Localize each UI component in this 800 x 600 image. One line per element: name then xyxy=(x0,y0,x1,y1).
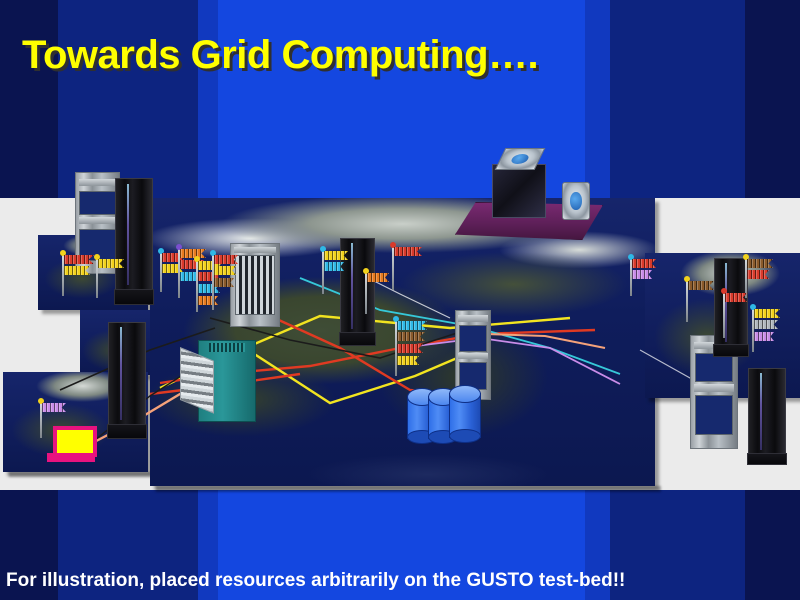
flag-pole xyxy=(752,308,754,352)
tower-light-strip xyxy=(351,243,353,329)
flag-pole xyxy=(62,254,64,296)
rack-bar xyxy=(458,315,488,321)
rack-slot xyxy=(695,395,734,435)
flag-pole xyxy=(392,246,394,290)
tower-base xyxy=(339,332,376,346)
rack-slot xyxy=(459,325,488,352)
cray-logo xyxy=(209,343,245,352)
flag-pole xyxy=(745,258,747,298)
dish-eye xyxy=(509,154,530,164)
cylinder-top xyxy=(449,385,481,403)
flag-pole xyxy=(178,248,180,298)
rack-bar xyxy=(234,247,276,253)
tower-light-strip xyxy=(127,184,129,285)
flag-pole xyxy=(322,250,324,294)
flag-pole xyxy=(196,260,198,312)
flag-pole xyxy=(723,292,725,338)
tower-right xyxy=(748,368,786,460)
flag-pole xyxy=(365,272,367,314)
tower-light-strip xyxy=(760,373,762,450)
flag-pole xyxy=(395,320,397,376)
rack-bar xyxy=(694,384,735,392)
flag-pole xyxy=(686,280,688,322)
rack-bar xyxy=(79,217,117,224)
slide-root: Towards Grid Computing…. xyxy=(0,0,800,600)
tower-far-right xyxy=(714,258,748,352)
rack-bar xyxy=(458,353,488,359)
tower-base xyxy=(107,424,147,439)
dish-eye xyxy=(570,192,581,209)
flag-pole xyxy=(212,254,214,310)
rack-slot xyxy=(235,255,275,314)
cube-computer xyxy=(492,164,546,218)
flag-pole xyxy=(40,402,42,438)
satellite-dish-side xyxy=(562,182,590,220)
cylinder-bottom xyxy=(449,429,481,443)
tower-base xyxy=(114,289,154,305)
tower-top-left xyxy=(115,178,153,298)
rack-bar xyxy=(79,179,117,186)
rack-center xyxy=(230,243,280,327)
desktop-monitor xyxy=(53,426,89,462)
flag-pole xyxy=(630,258,632,296)
page-title: Towards Grid Computing…. xyxy=(22,33,538,78)
slide-caption: For illustration, placed resources arbit… xyxy=(6,570,625,592)
rack-slot xyxy=(79,191,115,215)
tower-base xyxy=(713,344,749,357)
tower-light-strip xyxy=(120,327,122,420)
tower-center-left xyxy=(108,322,146,432)
monitor-base xyxy=(47,453,96,462)
flag-pole xyxy=(96,258,98,298)
grid-illustration xyxy=(0,150,800,495)
monitor-screen xyxy=(53,426,97,457)
flag-pole xyxy=(160,252,162,292)
cray-supercomputer xyxy=(198,340,256,422)
tower-base xyxy=(747,453,787,466)
disk-cylinder-3 xyxy=(449,385,481,443)
